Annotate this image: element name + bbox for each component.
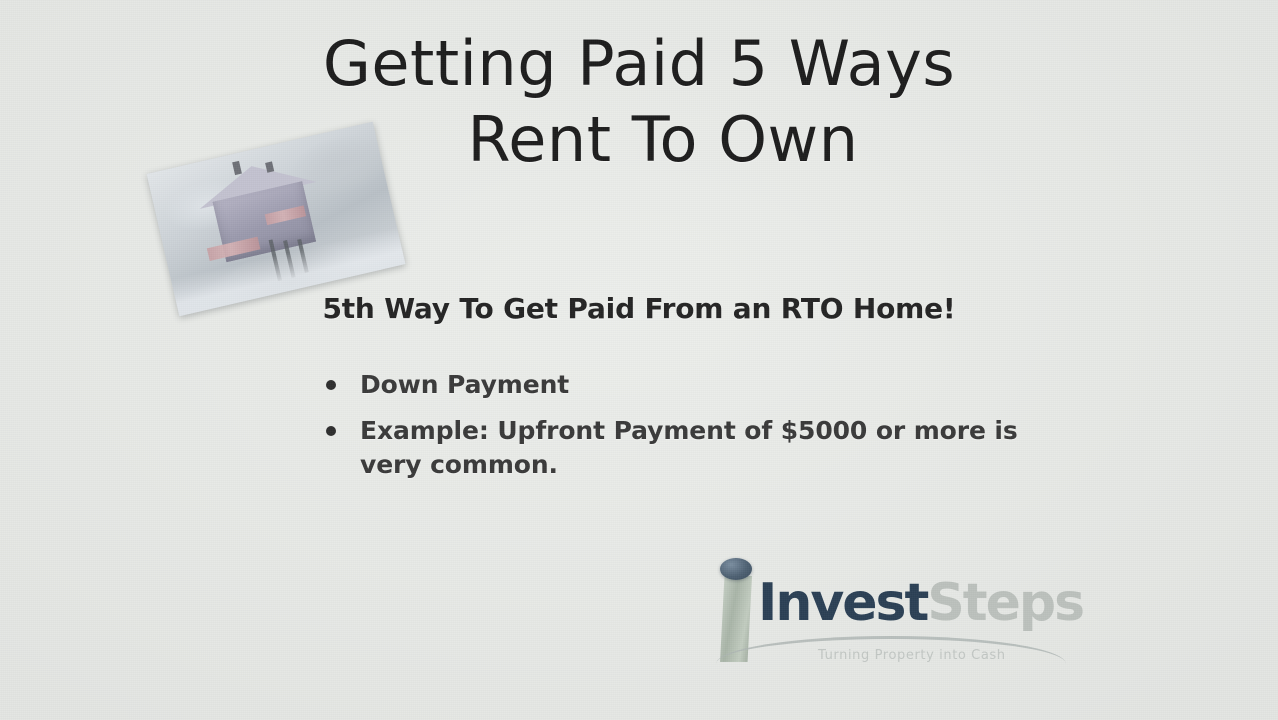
house-photo: [147, 122, 406, 316]
logo-word-invest: Invest: [758, 573, 927, 633]
bullet-dot-icon: [326, 380, 336, 390]
presentation-slide: Getting Paid 5 Ways Rent To Own 5th Way …: [0, 0, 1278, 720]
logo-pillar-dot-icon: [720, 558, 752, 580]
logo-wordmark: InvestSteps: [758, 574, 1083, 632]
list-item: Down Payment: [326, 368, 1086, 402]
list-item-label: Example: Upfront Payment of $5000 or mor…: [360, 414, 1040, 482]
list-item-label: Down Payment: [360, 368, 569, 402]
title-line-1: Getting Paid 5 Ways: [0, 26, 1278, 102]
list-item: Example: Upfront Payment of $5000 or mor…: [326, 414, 1086, 482]
bullet-dot-icon: [326, 426, 336, 436]
logo-tagline: Turning Property into Cash: [818, 648, 1006, 663]
logo-word-steps: Steps: [927, 573, 1083, 633]
investsteps-logo: InvestSteps Turning Property into Cash: [706, 552, 1066, 674]
bullet-list: Down Payment Example: Upfront Payment of…: [326, 368, 1086, 494]
slide-subtitle: 5th Way To Get Paid From an RTO Home!: [0, 292, 1278, 325]
